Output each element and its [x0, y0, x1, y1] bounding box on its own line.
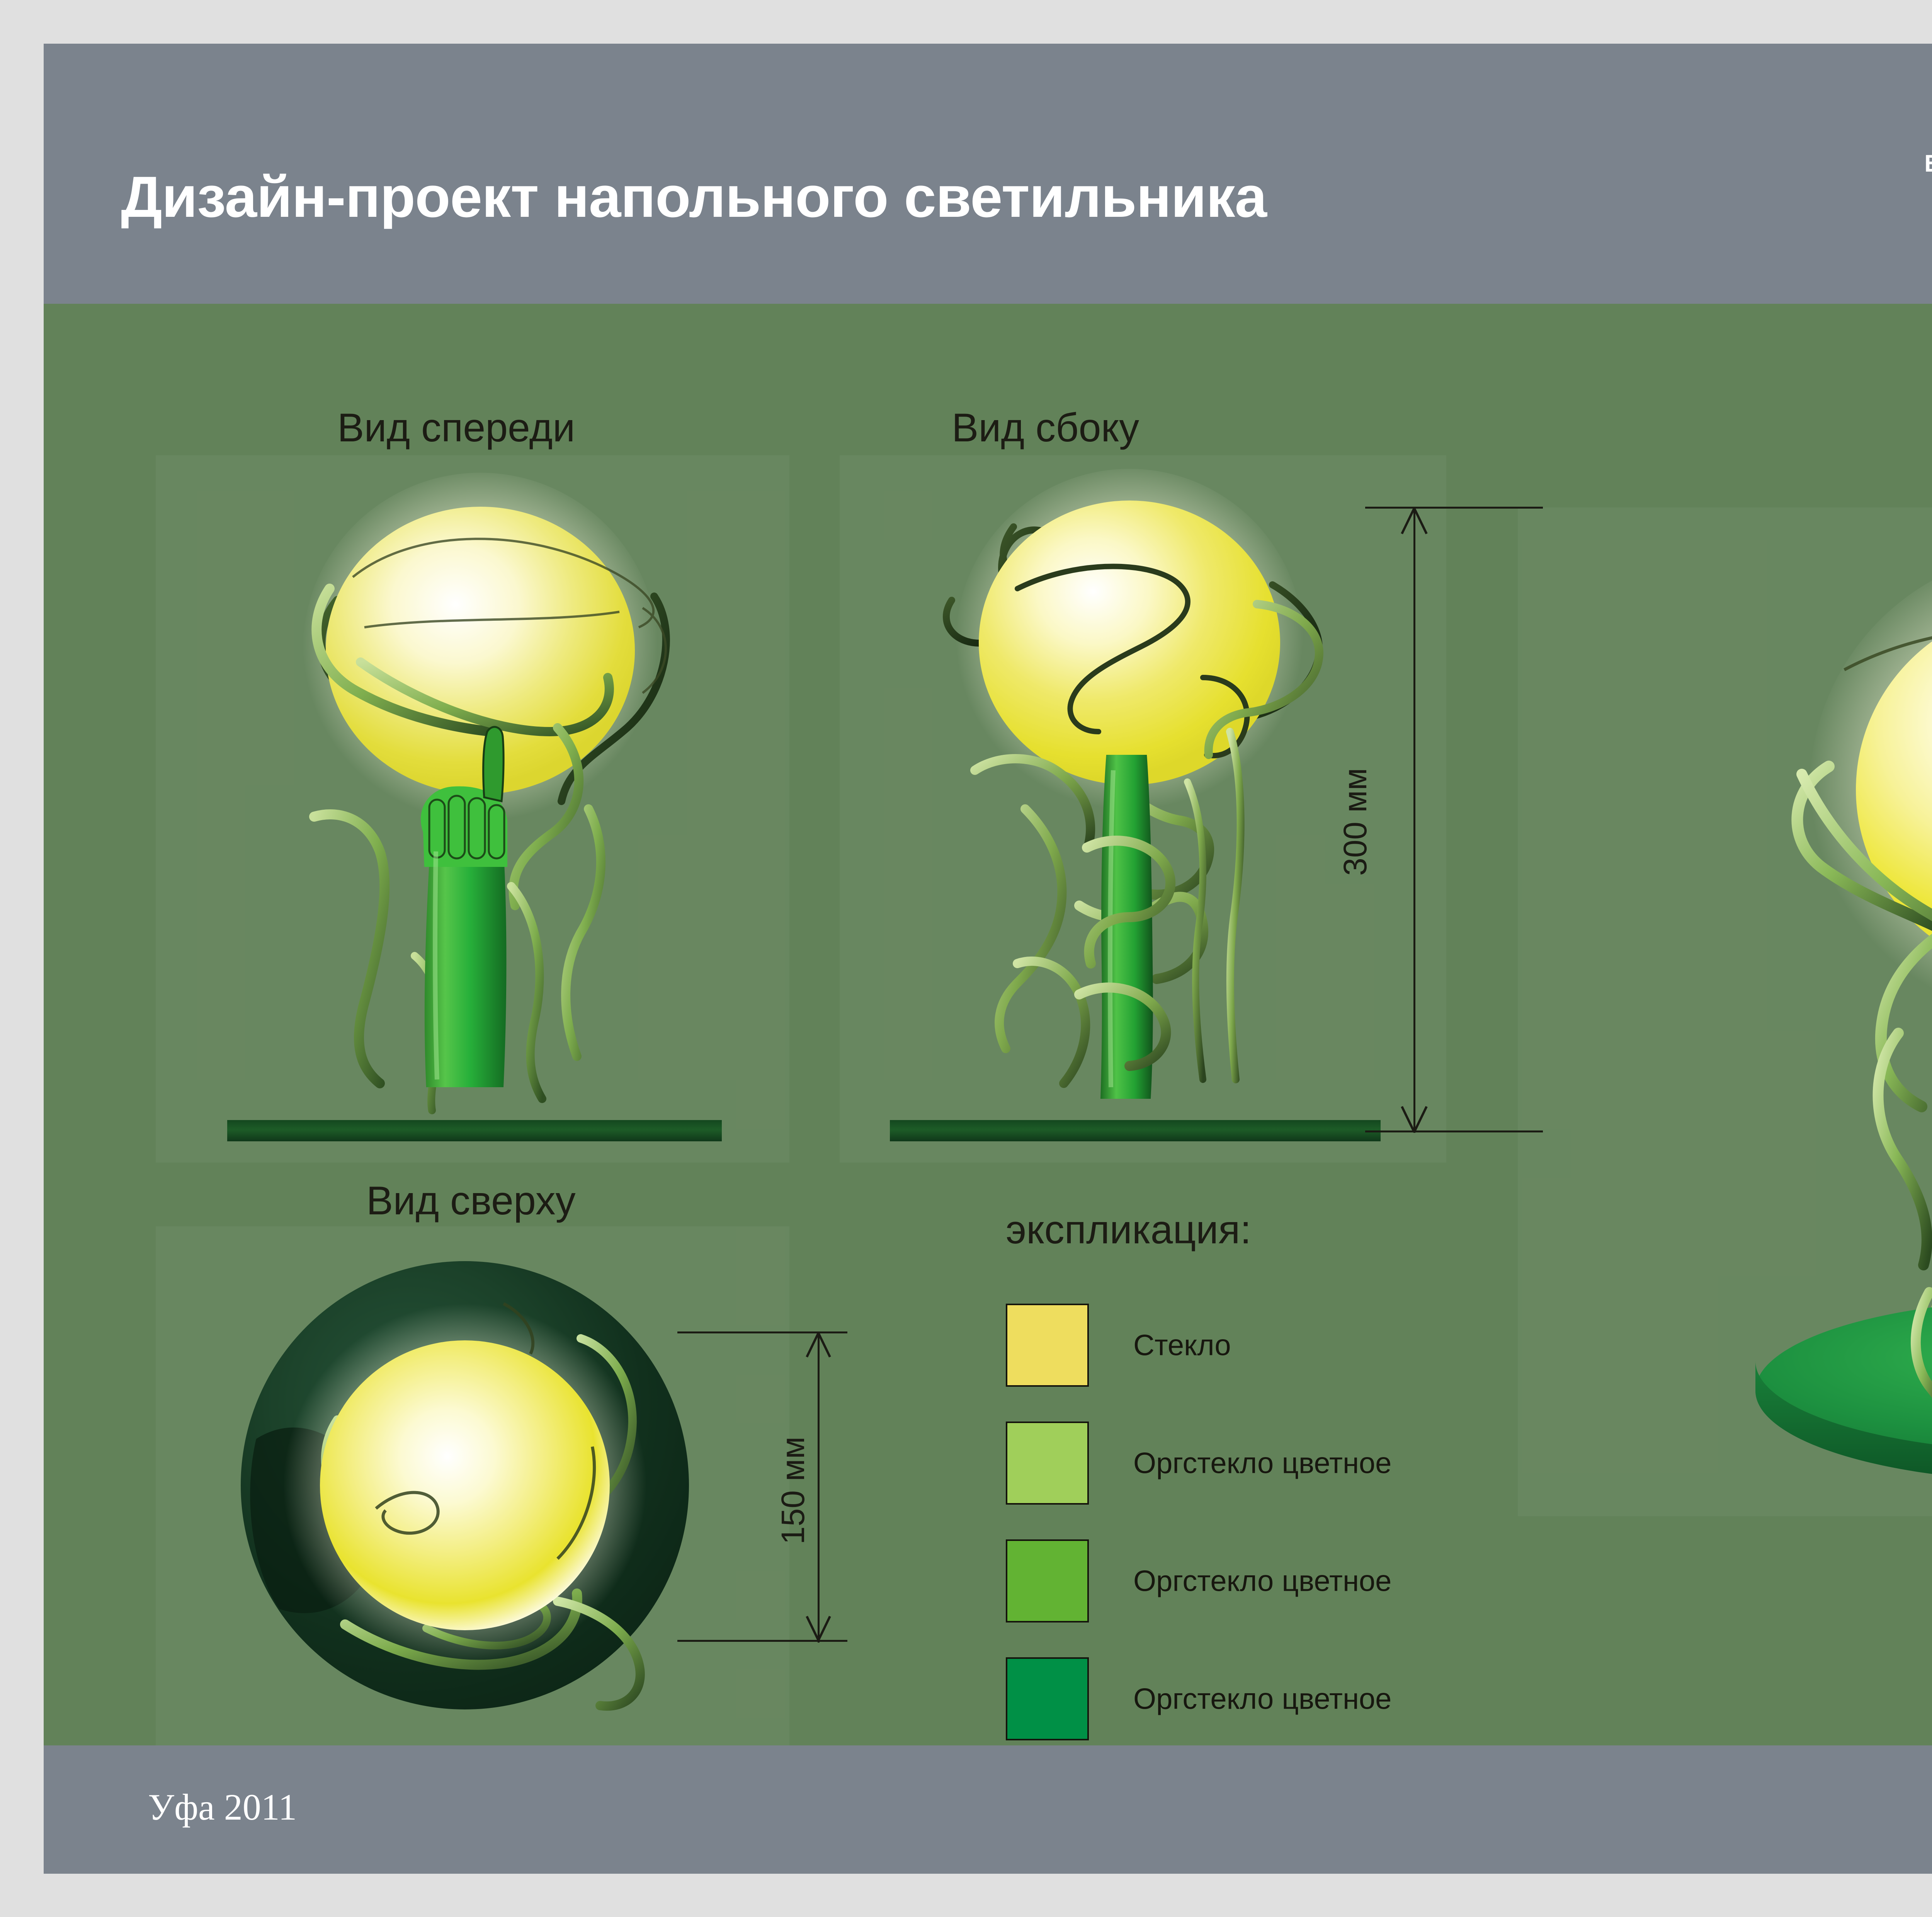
legend-swatch-acrylic-dark [1006, 1657, 1089, 1740]
legend-label-acrylic-mid: Оргстекло цветное [1133, 1564, 1391, 1598]
front-view-label: Вид спереди [337, 405, 575, 451]
university-line-4: КАФЕДРА ДПИ И ДИЗАЙНА [1924, 243, 1932, 275]
front-view-ground [227, 1120, 722, 1141]
legend-swatch-glass [1006, 1304, 1089, 1387]
university-line-3: ХУДОЖЕСТВЕННО-ГРАФИЧЕСКИЙ ФАКУЛЬТЕТ [1924, 212, 1932, 243]
university-line-2: УНИВЕРСИТЕТ ИМ. М. АКМУЛЛЫ [1924, 180, 1932, 211]
dim-arrowhead-bottom [1394, 1087, 1437, 1134]
dim-arrow-shaft [1413, 507, 1415, 1133]
legend-row: Оргстекло цветное [1006, 1657, 1547, 1740]
legend-swatch-acrylic-light [1006, 1422, 1089, 1505]
legend-row: Оргстекло цветное [1006, 1539, 1547, 1622]
university-line-1: БАШКИРСКИЙ ГОСУДАРСТВЕННЫЙ ПЕДАГОГИЧЕСКИ… [1924, 148, 1932, 180]
dim-arrowhead-top [1394, 507, 1437, 553]
footer-band: Уфа 2011 Исполнитель: Хайдарова М.Ф. сту… [44, 1745, 1932, 1874]
dia-arrowhead-top [799, 1331, 840, 1374]
legend-title: экспликация: [1006, 1207, 1251, 1253]
top-view-label: Вид сверху [366, 1178, 576, 1224]
legend-label-glass: Стекло [1133, 1328, 1231, 1362]
front-view-render [198, 461, 778, 1141]
dia-arrow-shaft [818, 1331, 820, 1643]
side-view-ground [890, 1120, 1381, 1141]
page-title: Дизайн-проект напольного светильника [121, 163, 1267, 230]
height-dimension-label: 300 мм [1337, 768, 1374, 876]
dim-ext-line-top [1365, 507, 1543, 509]
header-band: Дизайн-проект напольного светильника БАШ… [44, 44, 1932, 304]
legend-label-acrylic-dark: Оргстекло цветное [1133, 1682, 1391, 1716]
legend-label-acrylic-light: Оргстекло цветное [1133, 1446, 1391, 1480]
side-view-label: Вид сбоку [952, 405, 1139, 451]
top-view-render [210, 1238, 743, 1752]
main-lamp-render [1551, 519, 1932, 1508]
legend-row: Оргстекло цветное [1006, 1422, 1547, 1505]
dim-ext-line-bottom [1365, 1130, 1543, 1132]
dia-arrowhead-bottom [799, 1599, 840, 1642]
side-view-render [863, 461, 1404, 1141]
legend-swatch-acrylic-mid [1006, 1539, 1089, 1622]
poster-board: Дизайн-проект напольного светильника БАШ… [44, 44, 1932, 1874]
university-block: БАШКИРСКИЙ ГОСУДАРСТВЕННЫЙ ПЕДАГОГИЧЕСКИ… [1924, 148, 1932, 276]
legend-row: Стекло [1006, 1304, 1547, 1387]
diameter-dimension-label: 150 мм [774, 1437, 812, 1544]
city-year-label: Уфа 2011 [148, 1786, 297, 1828]
design-poster: Дизайн-проект напольного светильника БАШ… [0, 0, 1932, 1917]
